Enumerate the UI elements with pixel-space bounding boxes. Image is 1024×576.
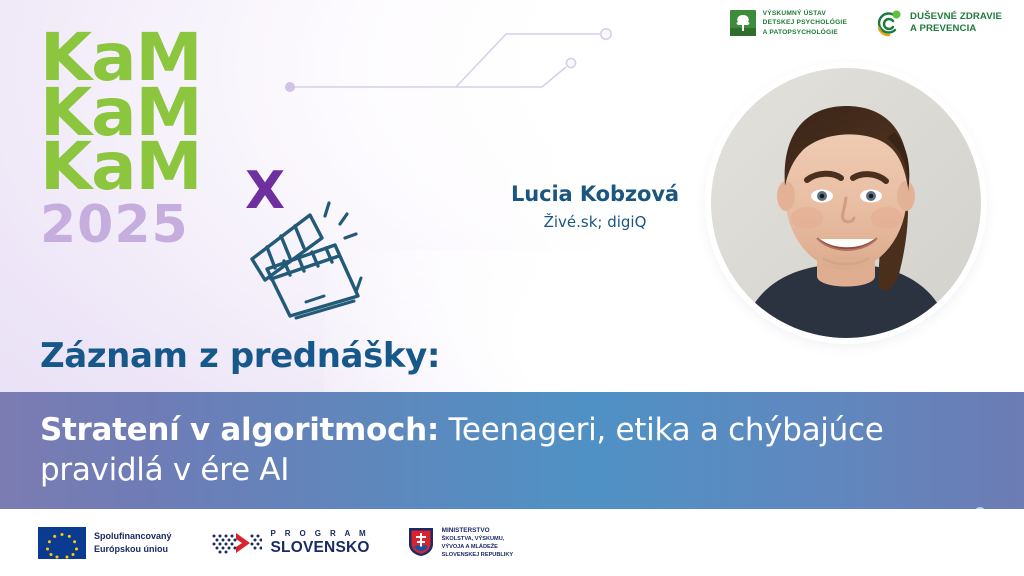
partner-logo-dusevne-zdravie: DUŠEVNÉ ZDRAVIE A PREVENCIA — [873, 8, 1002, 38]
circuit-node-filled — [285, 82, 295, 92]
ministerstvo-line-3: SLOVENSKEJ REPUBLIKY — [442, 551, 514, 559]
circuit-node-open-2 — [566, 58, 575, 67]
eu-line-2: Európskou úniou — [94, 543, 172, 555]
logo-year: 2025 — [40, 202, 198, 250]
partner-logo-vudpap-label: VÝSKUMNÝ ÚSTAV DETSKEJ PSYCHOLÓGIE A PAT… — [763, 9, 847, 37]
footer-logo-program-slovensko: P R O G R A M SLOVENSKO — [210, 528, 370, 558]
circuit-node-open-1 — [601, 29, 611, 39]
partner-logo-dusevne-zdravie-label: DUŠEVNÉ ZDRAVIE A PREVENCIA — [910, 11, 1002, 36]
vudpap-line-3: A PATOPSYCHOLÓGIE — [763, 28, 847, 37]
partner-logo-vudpap: VÝSKUMNÝ ÚSTAV DETSKEJ PSYCHOLÓGIE A PAT… — [730, 9, 847, 37]
eu-line-1: Spolufinancovaný — [94, 530, 172, 542]
footer-logo-ministerstvo: MINISTERSTVO ŠKOLSTVA, VÝSKUMU, VÝVOJA A… — [408, 526, 514, 560]
partner-logo-row: VÝSKUMNÝ ÚSTAV DETSKEJ PSYCHOLÓGIE A PAT… — [730, 8, 1002, 38]
lecture-title-bold: Stratení v algoritmoch: — [40, 412, 439, 448]
spiral-mark-icon — [873, 8, 903, 38]
tree-mark-icon — [730, 10, 756, 36]
vudpap-line-1: VÝSKUMNÝ ÚSTAV — [763, 9, 847, 18]
title-band: Stratení v algoritmoch: Teenageri, etika… — [0, 392, 1024, 509]
eu-flag-icon — [38, 527, 86, 559]
speaker-organisation: Živé.sk; digiQ — [480, 213, 710, 231]
speaker-block: Lucia Kobzová Živé.sk; digiQ — [480, 182, 710, 231]
slovak-coat-of-arms-icon — [408, 527, 434, 557]
ministerstvo-line-0: MINISTERSTVO — [442, 526, 514, 535]
program-line-1: P R O G R A M — [271, 530, 370, 538]
footer-logo-eu: Spolufinancovaný Európskou úniou — [38, 527, 172, 559]
vudpap-line-2: DETSKEJ PSYCHOLÓGIE — [763, 18, 847, 27]
avatar — [711, 68, 981, 338]
lecture-title: Stratení v algoritmoch: Teenageri, etika… — [0, 411, 1024, 490]
footer-logo-eu-label: Spolufinancovaný Európskou úniou — [94, 530, 172, 554]
logo-line-3: KaM — [40, 137, 202, 198]
event-logo: KaM KaM KaM 2025 X — [40, 28, 198, 250]
circuit-trace-top — [270, 18, 650, 110]
dz-line-1: DUŠEVNÉ ZDRAVIE — [910, 11, 1002, 23]
program-line-2: SLOVENSKO — [271, 540, 370, 556]
footer-logo-ministerstvo-label: MINISTERSTVO ŠKOLSTVA, VÝSKUMU, VÝVOJA A… — [442, 526, 514, 560]
page-title: Záznam z prednášky: — [40, 336, 440, 376]
speaker-photo — [711, 68, 981, 338]
speaker-name: Lucia Kobzová — [480, 182, 710, 206]
clapperboard-icon — [234, 192, 374, 322]
footer-logo-program-slovensko-label: P R O G R A M SLOVENSKO — [271, 530, 370, 556]
ministerstvo-line-2: VÝVOJA A MLÁDEŽE — [442, 543, 514, 551]
footer-logo-row: Spolufinancovaný Európskou úniou — [0, 509, 1024, 576]
program-slovensko-mark-icon — [210, 528, 262, 558]
ministerstvo-line-1: ŠKOLSTVA, VÝSKUMU, — [442, 535, 514, 543]
presentation-slide: KaM KaM KaM 2025 X — [0, 0, 1024, 576]
dz-line-2: A PREVENCIA — [910, 23, 1002, 35]
